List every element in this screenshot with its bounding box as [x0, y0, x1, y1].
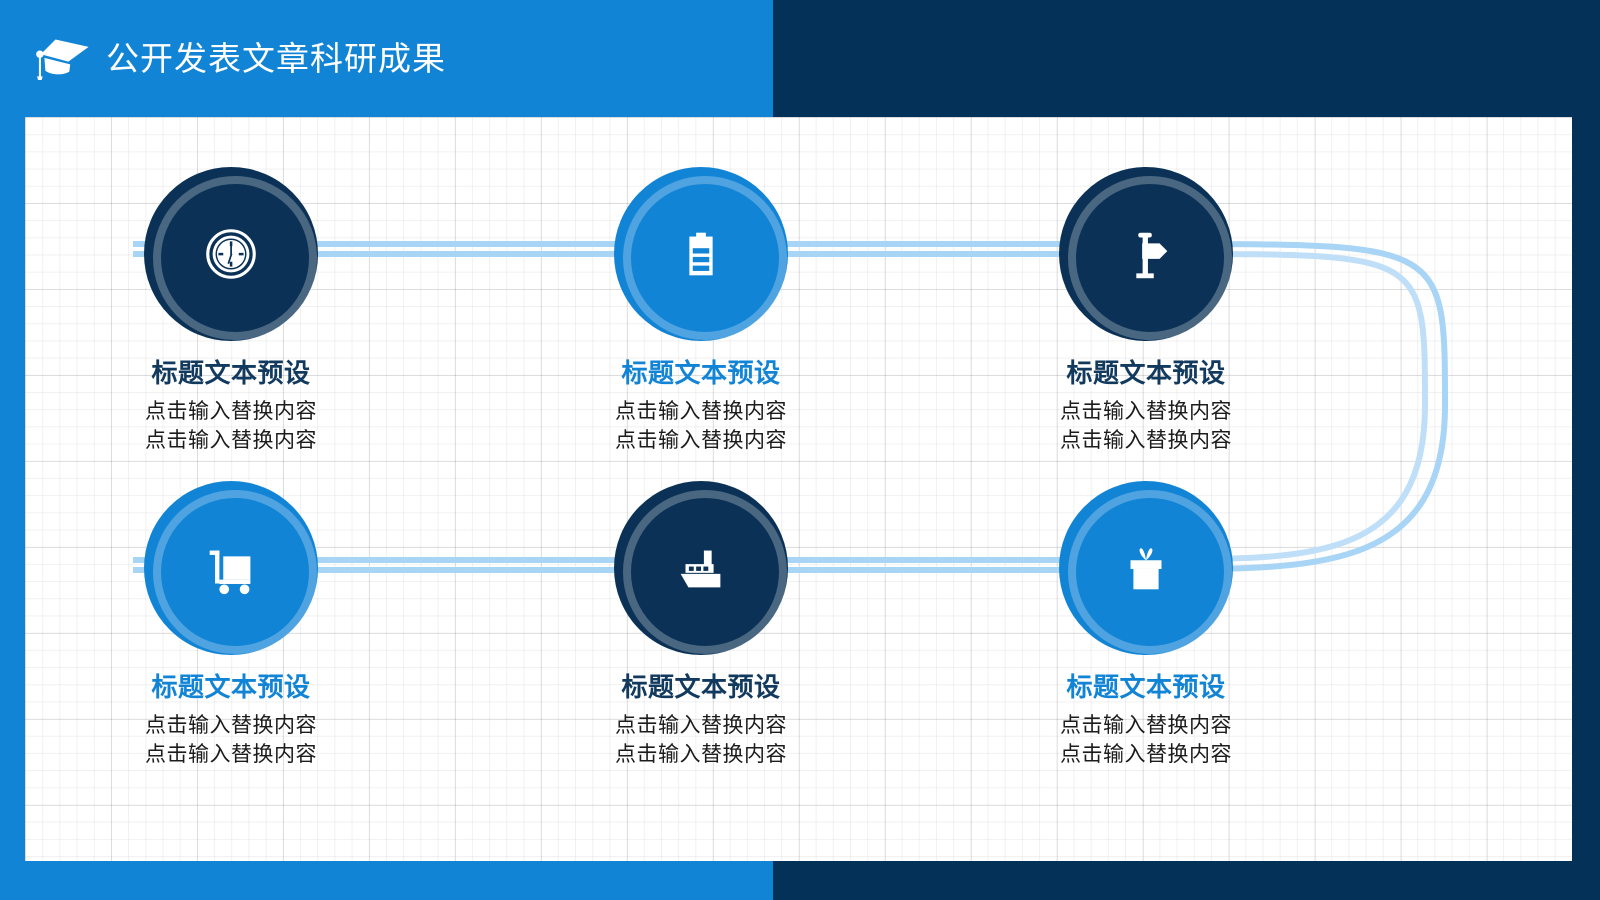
node-1-desc: 点击输入替换内容 点击输入替换内容	[81, 397, 381, 457]
node-1-circle-wrap[interactable]	[144, 167, 318, 341]
node-3-desc: 点击输入替换内容 点击输入替换内容	[996, 397, 1296, 457]
node-4-desc-line1: 点击输入替换内容	[81, 711, 381, 741]
node-1[interactable]: 标题文本预设 点击输入替换内容 点击输入替换内容	[81, 167, 381, 456]
node-1-title: 标题文本预设	[81, 359, 381, 388]
node-3-circle[interactable]	[1059, 167, 1233, 341]
node-4-circle-wrap[interactable]	[144, 481, 318, 655]
node-1-circle[interactable]	[144, 167, 318, 341]
slide-header: 公开发表文章科研成果	[0, 0, 773, 117]
page-title: 公开发表文章科研成果	[106, 42, 446, 75]
node-5-title: 标题文本预设	[551, 673, 851, 702]
node-2-title: 标题文本预设	[551, 359, 851, 388]
node-4-circle[interactable]	[144, 481, 318, 655]
battery-icon	[670, 223, 732, 285]
node-3[interactable]: 标题文本预设 点击输入替换内容 点击输入替换内容	[996, 167, 1296, 456]
content-canvas: 标题文本预设 点击输入替换内容 点击输入替换内容	[25, 117, 1572, 861]
node-5-circle-wrap[interactable]	[614, 481, 788, 655]
node-4-title: 标题文本预设	[81, 673, 381, 702]
shopping-cart-icon	[200, 537, 262, 599]
node-4-desc: 点击输入替换内容 点击输入替换内容	[81, 711, 381, 771]
gift-icon	[1115, 537, 1177, 599]
node-3-title: 标题文本预设	[996, 359, 1296, 388]
node-1-desc-line2: 点击输入替换内容	[81, 426, 381, 456]
node-2-desc-line1: 点击输入替换内容	[551, 397, 851, 427]
graduation-cap-icon	[30, 34, 92, 80]
node-4-desc-line2: 点击输入替换内容	[81, 740, 381, 770]
node-6-circle-wrap[interactable]	[1059, 481, 1233, 655]
node-5-desc: 点击输入替换内容 点击输入替换内容	[551, 711, 851, 771]
node-2-desc-line2: 点击输入替换内容	[551, 426, 851, 456]
node-2-circle[interactable]	[614, 167, 788, 341]
slide: 公开发表文章科研成果	[0, 0, 1600, 900]
node-6-desc: 点击输入替换内容 点击输入替换内容	[996, 711, 1296, 771]
node-6-circle[interactable]	[1059, 481, 1233, 655]
node-3-circle-wrap[interactable]	[1059, 167, 1233, 341]
node-4[interactable]: 标题文本预设 点击输入替换内容 点击输入替换内容	[81, 481, 381, 770]
node-3-desc-line2: 点击输入替换内容	[996, 426, 1296, 456]
node-6-desc-line1: 点击输入替换内容	[996, 711, 1296, 741]
node-2-desc: 点击输入替换内容 点击输入替换内容	[551, 397, 851, 457]
node-2[interactable]: 标题文本预设 点击输入替换内容 点击输入替换内容	[551, 167, 851, 456]
node-6-title: 标题文本预设	[996, 673, 1296, 702]
node-1-desc-line1: 点击输入替换内容	[81, 397, 381, 427]
node-2-circle-wrap[interactable]	[614, 167, 788, 341]
node-5-desc-line1: 点击输入替换内容	[551, 711, 851, 741]
node-5[interactable]: 标题文本预设 点击输入替换内容 点击输入替换内容	[551, 481, 851, 770]
node-5-desc-line2: 点击输入替换内容	[551, 740, 851, 770]
node-6-desc-line2: 点击输入替换内容	[996, 740, 1296, 770]
node-6[interactable]: 标题文本预设 点击输入替换内容 点击输入替换内容	[996, 481, 1296, 770]
signpost-icon	[1115, 223, 1177, 285]
node-5-circle[interactable]	[614, 481, 788, 655]
clock-icon	[200, 223, 262, 285]
node-3-desc-line1: 点击输入替换内容	[996, 397, 1296, 427]
ship-icon	[670, 537, 732, 599]
